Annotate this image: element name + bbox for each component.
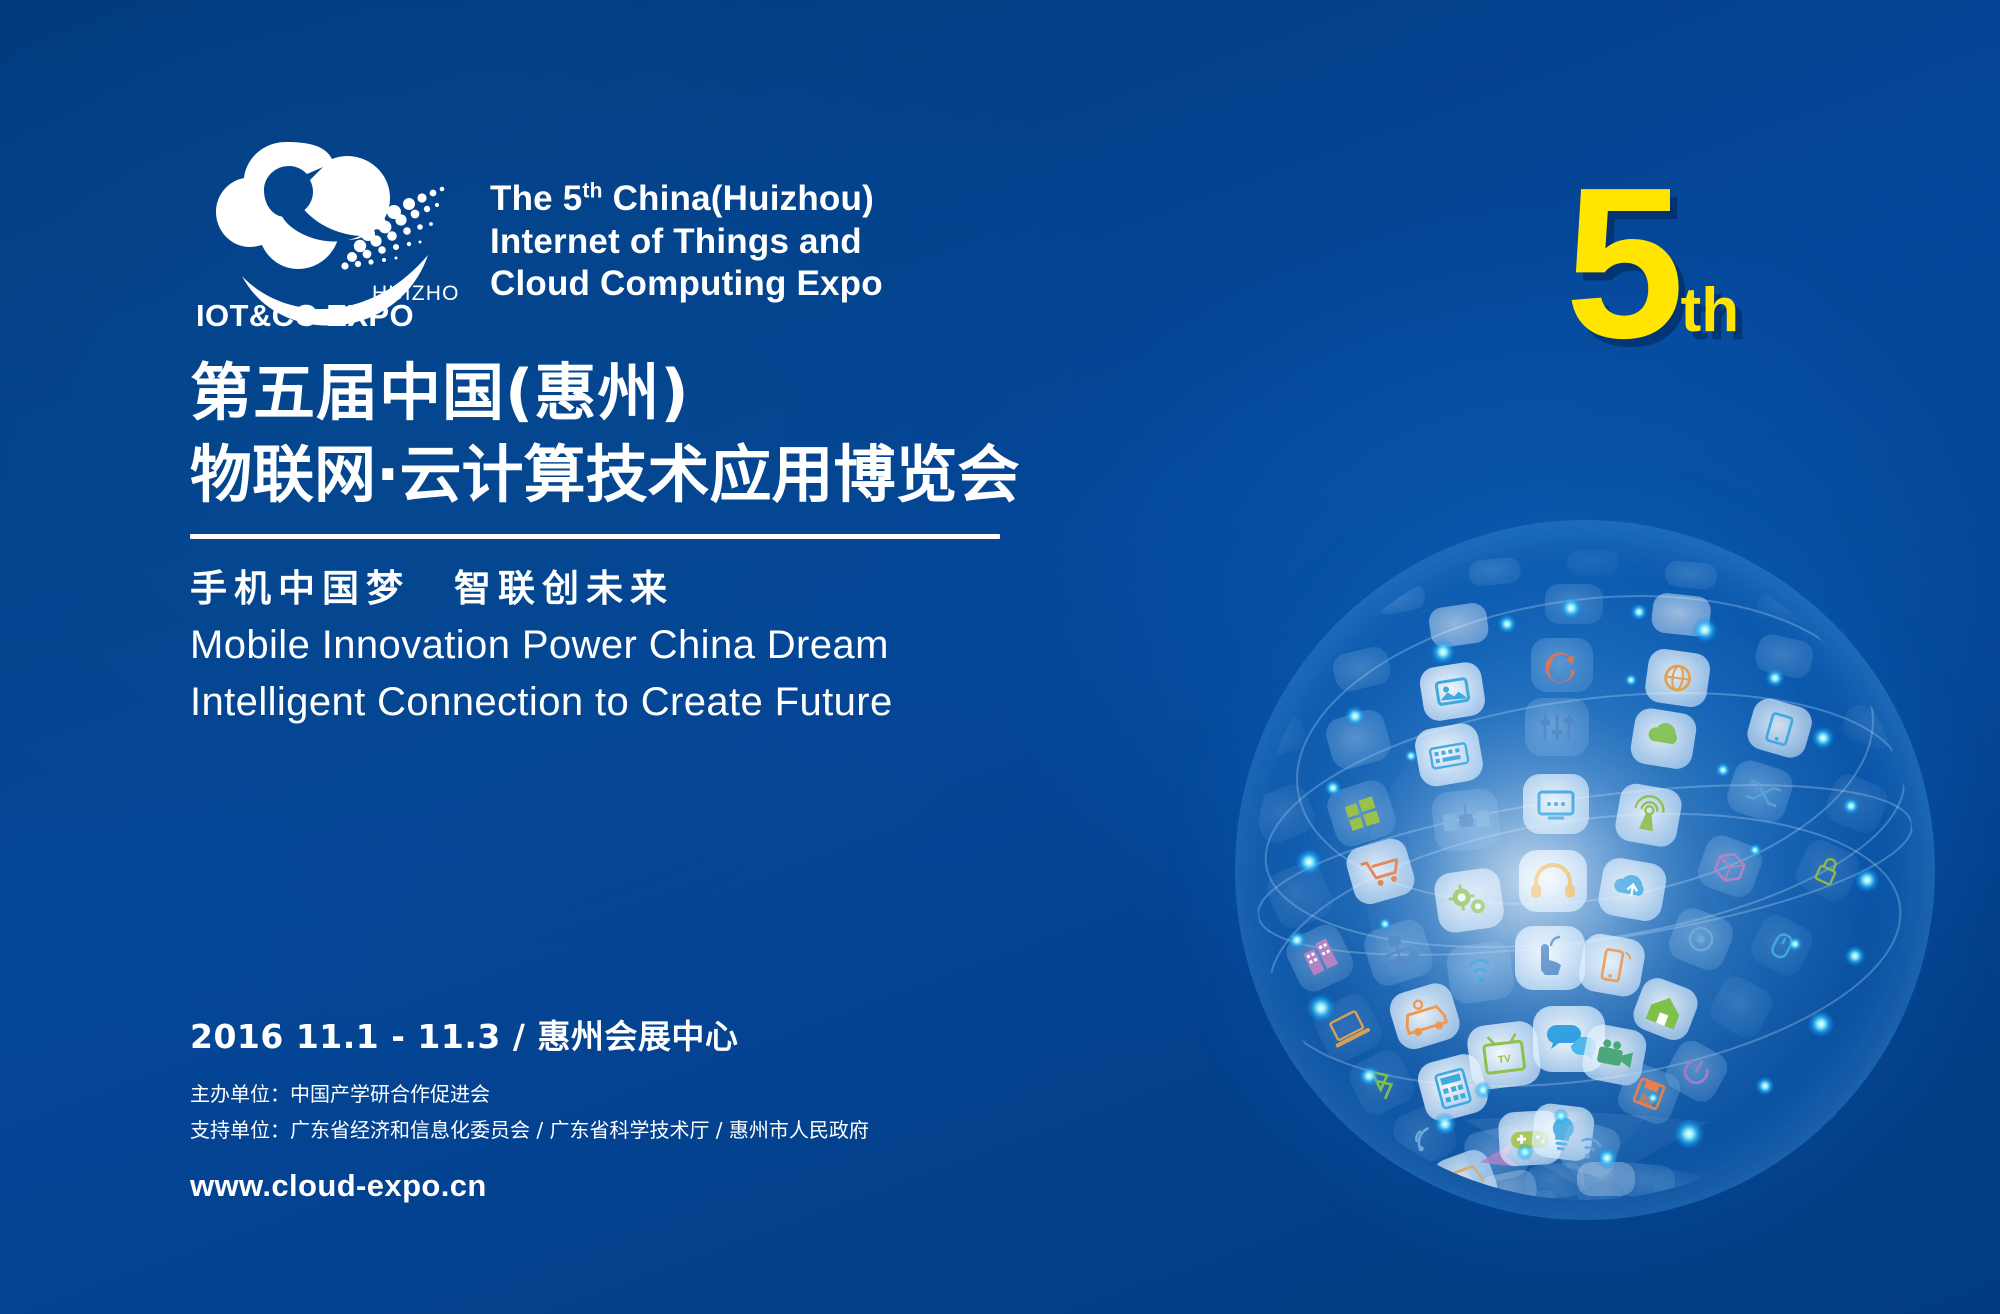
english-title-line3: Cloud Computing Expo bbox=[490, 263, 883, 306]
logo-lockup: HUIZHOU IOT&CC EXPO The 5th China(Huizho… bbox=[190, 130, 1050, 330]
date-and-venue: 2016 11.1 - 11.3 / 惠州会展中心 bbox=[190, 1010, 1090, 1058]
slogan-chinese: 手机中国梦 智联创未来 bbox=[190, 563, 1050, 615]
organizer-line: 主办单位：中国产学研合作促进会 bbox=[190, 1078, 1090, 1110]
expo-poster: HUIZHOU IOT&CC EXPO The 5th China(Huizho… bbox=[0, 0, 2000, 1314]
chinese-event-title: 第五届中国(惠州) 物联网·云计算技术应用博览会 bbox=[190, 352, 1050, 516]
footer-info-block: 2016 11.1 - 11.3 / 惠州会展中心 主办单位：中国产学研合作促进… bbox=[190, 1010, 1090, 1204]
globe-rim-light bbox=[1235, 520, 1935, 1220]
slogan-block: 手机中国梦 智联创未来 Mobile Innovation Power Chin… bbox=[190, 563, 1050, 728]
badge-number: 5 bbox=[1565, 142, 1679, 383]
chinese-title-line2: 物联网·云计算技术应用博览会 bbox=[190, 434, 1050, 516]
slogan-english-line2: Intelligent Connection to Create Future bbox=[190, 677, 1050, 727]
left-content-column: HUIZHOU IOT&CC EXPO The 5th China(Huizho… bbox=[190, 130, 1050, 727]
huizhou-dove-cloud-mark: HUIZHOU IOT&CC EXPO bbox=[190, 130, 460, 330]
slogan-english-line1: Mobile Innovation Power China Dream bbox=[190, 620, 1050, 670]
english-title-line2: Internet of Things and bbox=[490, 221, 883, 264]
supporters-line: 支持单位：广东省经济和信息化委员会 / 广东省科学技术厅 / 惠州市人民政府 bbox=[190, 1114, 1090, 1146]
website-url[interactable]: www.cloud-expo.cn bbox=[190, 1168, 1090, 1204]
iot-app-tile-globe: TV bbox=[1235, 520, 1935, 1220]
english-title-line1: The 5th China(Huizhou) bbox=[490, 178, 883, 221]
ordinal-superscript: th bbox=[582, 179, 602, 202]
badge-ordinal: th bbox=[1681, 276, 1740, 345]
fifth-edition-badge: 5th bbox=[1565, 155, 1739, 370]
logo-wordmark: IOT&CC EXPO bbox=[196, 298, 414, 330]
english-event-title: The 5th China(Huizhou) Internet of Thing… bbox=[490, 178, 883, 306]
chinese-title-line1: 第五届中国(惠州) bbox=[190, 352, 1050, 434]
divider-rule bbox=[190, 534, 1000, 539]
